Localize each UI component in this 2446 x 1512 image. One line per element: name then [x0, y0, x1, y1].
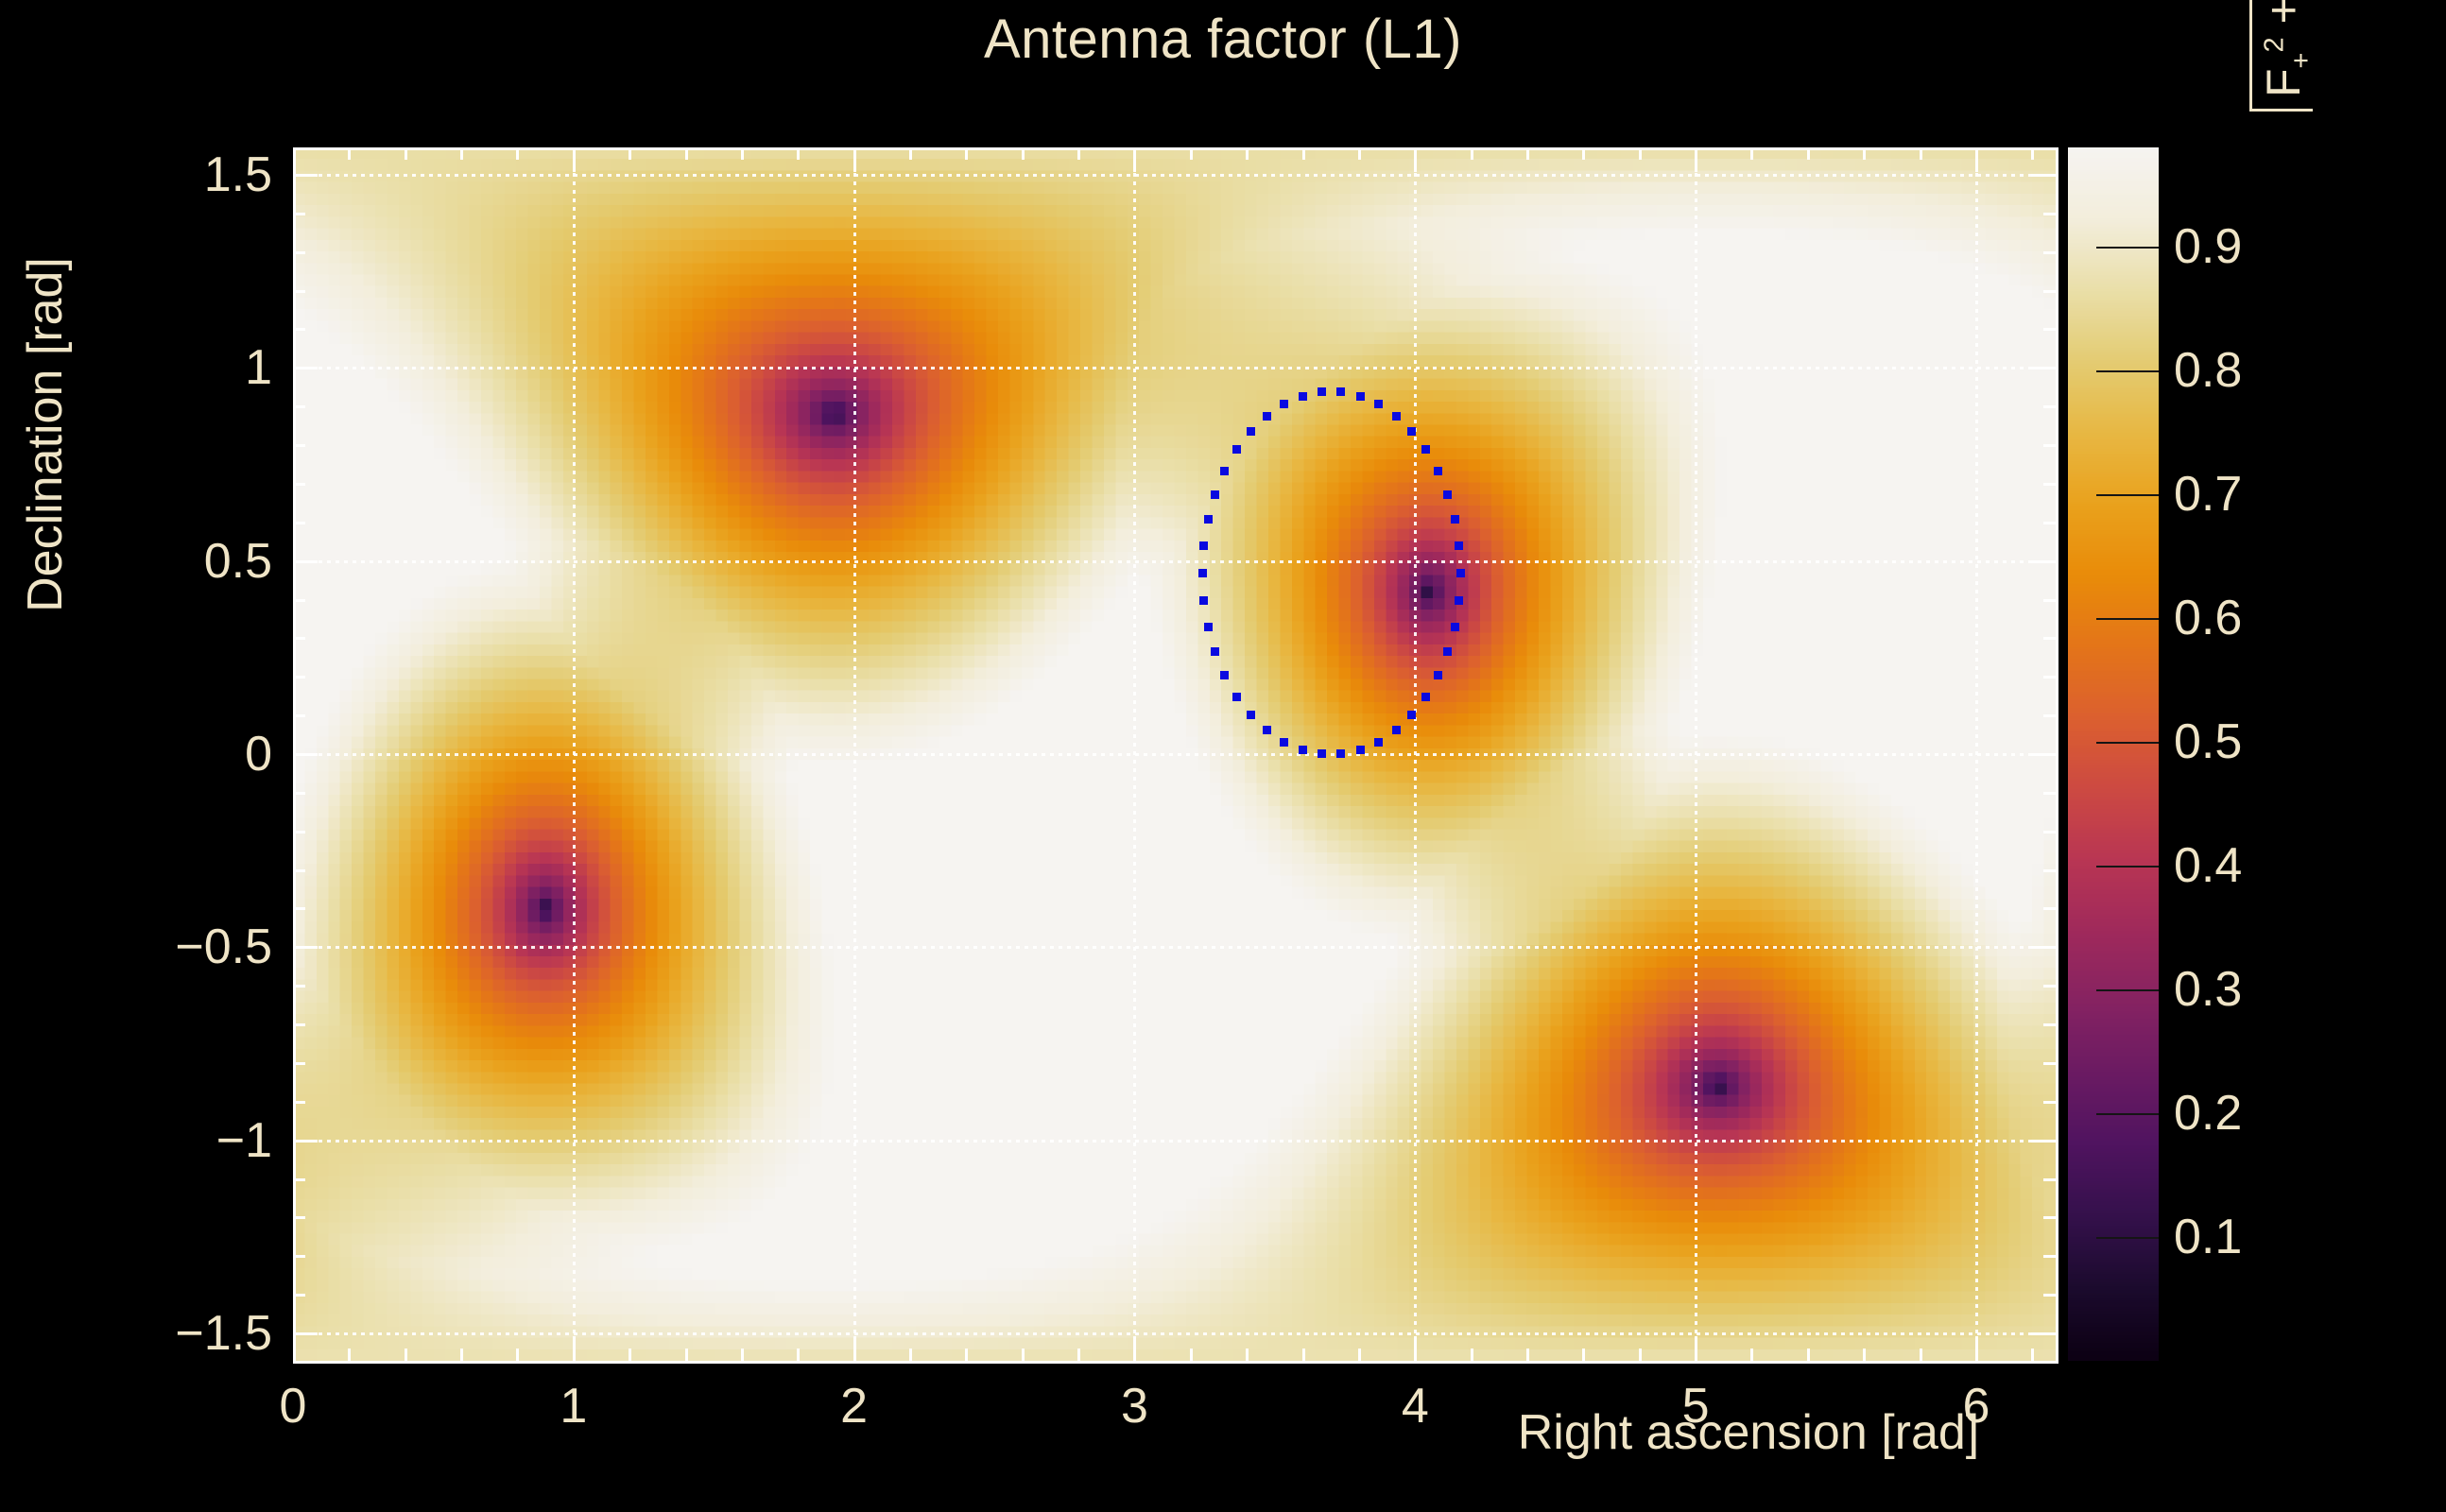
contour-marker: [1263, 412, 1271, 421]
sqrt-radical: F+2 + Fx2: [2249, 0, 2313, 112]
contour-marker: [1356, 392, 1365, 401]
color-bar-tick-label: 0.8: [2174, 342, 2242, 399]
x-axis-title: Right ascension [rad]: [1389, 1404, 2108, 1461]
y-tick-right: [2043, 1178, 2056, 1181]
sqrt-expression: F+2 + Fx2: [2256, 0, 2311, 99]
contour-marker: [1318, 749, 1326, 758]
plot-canvas: Antenna factor (L1) 0123456 1.510.50−0.5…: [0, 0, 2446, 1512]
y-tick-right: [2043, 869, 2056, 872]
y-tick-right: [2031, 560, 2056, 563]
plot-frame-bottom: [293, 1361, 2058, 1364]
x-tick-bottom: [1920, 1349, 1922, 1361]
x-tick-bottom: [1302, 1349, 1305, 1361]
color-bar-tick-label: 0.4: [2174, 837, 2242, 894]
y-tick-label: 1: [55, 339, 272, 396]
x-tick-bottom: [516, 1349, 519, 1361]
color-bar-tick: [2096, 1237, 2159, 1239]
contour-marker: [1356, 746, 1365, 754]
contour-marker: [1392, 412, 1401, 421]
x-tick-bottom: [348, 1349, 351, 1361]
contour-marker: [1451, 515, 1459, 524]
contour-marker: [1421, 693, 1430, 701]
y-tick-right: [2043, 676, 2056, 679]
z-axis-title: F+2 + Fx2: [2249, 0, 2313, 113]
contour-marker: [1204, 623, 1213, 631]
contour-marker: [1198, 569, 1207, 577]
contour-marker: [1374, 738, 1383, 747]
color-bar-tick: [2096, 1113, 2159, 1115]
contour-marker: [1434, 671, 1442, 679]
x-tick-bottom: [1863, 1349, 1866, 1361]
contour-marker: [1299, 746, 1307, 754]
y-tick-right: [2043, 792, 2056, 795]
y-tick-right: [2043, 213, 2056, 215]
contour-marker: [1220, 467, 1229, 475]
contour-marker: [1318, 387, 1326, 396]
contour-marker: [1421, 445, 1430, 454]
x-tick-bottom: [1807, 1349, 1810, 1361]
y-tick-left: [293, 1332, 318, 1335]
y-tick-right: [2043, 1023, 2056, 1026]
x-tick-top: [1975, 147, 1978, 172]
plus-operator: +: [2257, 0, 2310, 24]
y-tick-right: [2031, 753, 2056, 756]
contour-marker: [1407, 711, 1416, 719]
contour-marker: [1443, 647, 1452, 656]
color-bar-tick: [2096, 618, 2159, 620]
x-tick-bottom: [405, 1349, 407, 1361]
color-bar-tick-label: 0.3: [2174, 961, 2242, 1018]
contour-marker: [1211, 647, 1219, 656]
color-bar-tick: [2096, 989, 2159, 991]
color-bar-tick: [2096, 866, 2159, 868]
y-tick-label: −0.5: [55, 919, 272, 975]
contour-marker: [1232, 693, 1241, 701]
y-tick-right: [2043, 599, 2056, 602]
contour-marker: [1455, 596, 1463, 605]
x-tick-bottom: [1077, 1349, 1080, 1361]
y-tick-right: [2043, 637, 2056, 640]
y-tick-label: 0.5: [55, 533, 272, 590]
x-tick-bottom: [853, 1336, 856, 1361]
contour-marker: [1199, 596, 1208, 605]
y-tick-label: −1.5: [55, 1305, 272, 1362]
y-tick-right: [2031, 946, 2056, 949]
x-tick-bottom: [797, 1349, 800, 1361]
color-bar-tick: [2096, 247, 2159, 249]
y-tick-right: [2043, 714, 2056, 717]
x-tick-bottom: [741, 1349, 744, 1361]
x-tick-bottom: [965, 1349, 968, 1361]
contour-marker: [1443, 490, 1452, 499]
x-tick-bottom: [1414, 1336, 1417, 1361]
contour-marker: [1211, 490, 1219, 499]
color-bar-tick-label: 0.2: [2174, 1085, 2242, 1142]
y-tick-right: [2043, 405, 2056, 408]
x-tick-bottom: [685, 1349, 688, 1361]
x-tick-bottom: [909, 1349, 912, 1361]
contour-marker: [1220, 671, 1229, 679]
color-bar-tick-label: 0.5: [2174, 713, 2242, 770]
contour-marker: [1455, 541, 1463, 550]
f-plus-exp: 2: [2259, 37, 2289, 52]
x-tick-top: [573, 147, 576, 172]
y-tick-right: [2043, 483, 2056, 486]
heatmap-image: [293, 147, 2056, 1361]
y-tick-right: [2031, 174, 2056, 177]
x-tick-bottom: [2031, 1349, 2034, 1361]
y-tick-left: [293, 946, 318, 949]
y-tick-right: [2043, 1294, 2056, 1297]
plot-frame-top: [293, 147, 2058, 150]
x-tick-label: 1: [560, 1378, 587, 1435]
plot-frame-right: [2056, 147, 2058, 1364]
x-tick-top: [1695, 147, 1697, 172]
contour-marker: [1374, 400, 1383, 408]
x-tick-bottom: [1975, 1336, 1978, 1361]
contour-marker: [1280, 400, 1288, 408]
page-title: Antenna factor (L1): [0, 8, 2446, 71]
contour-marker: [1451, 623, 1459, 631]
x-tick-top: [1414, 147, 1417, 172]
y-tick-right: [2043, 1062, 2056, 1065]
y-tick-right: [2043, 985, 2056, 988]
y-tick-right: [2043, 831, 2056, 833]
color-bar-tick: [2096, 742, 2159, 744]
y-tick-left: [293, 1140, 318, 1143]
f-plus-term: F+2: [2257, 37, 2310, 97]
contour-marker: [1336, 387, 1345, 396]
x-tick-bottom: [1022, 1349, 1025, 1361]
contour-marker: [1247, 427, 1255, 436]
y-tick-right: [2043, 522, 2056, 524]
y-tick-right: [2043, 907, 2056, 910]
y-axis-title: Declination [rad]: [17, 170, 74, 699]
contour-marker: [1199, 541, 1208, 550]
y-tick-left: [293, 174, 318, 177]
color-bar[interactable]: [2068, 147, 2159, 1361]
x-tick-bottom: [1639, 1349, 1642, 1361]
contour-marker: [1456, 569, 1465, 577]
contour-marker: [1263, 726, 1271, 734]
color-bar-tick: [2096, 370, 2159, 372]
heatmap-plot-area[interactable]: [293, 147, 2056, 1361]
y-tick-right: [2031, 1140, 2056, 1143]
y-tick-right: [2031, 367, 2056, 369]
y-tick-right: [2043, 1255, 2056, 1258]
x-tick-bottom: [573, 1336, 576, 1361]
x-tick-label: 0: [280, 1378, 307, 1435]
color-bar-tick-label: 0.6: [2174, 590, 2242, 646]
y-tick-right: [2043, 444, 2056, 447]
contour-marker: [1204, 515, 1213, 524]
x-tick-top: [853, 147, 856, 172]
y-tick-left: [293, 560, 318, 563]
x-tick-label: 3: [1121, 1378, 1148, 1435]
x-tick-top: [1133, 147, 1136, 172]
y-tick-right: [2043, 328, 2056, 331]
color-bar-tick-label: 0.7: [2174, 466, 2242, 523]
contour-marker: [1247, 711, 1255, 719]
contour-marker: [1434, 467, 1442, 475]
x-tick-bottom: [1582, 1349, 1585, 1361]
color-bar-tick-label: 0.1: [2174, 1209, 2242, 1265]
x-tick-bottom: [1695, 1336, 1697, 1361]
y-tick-right: [2043, 290, 2056, 293]
plot-frame-left: [293, 147, 296, 1364]
x-tick-bottom: [1526, 1349, 1529, 1361]
f-plus-sub: +: [2286, 53, 2317, 69]
x-tick-label: 2: [840, 1378, 868, 1435]
y-tick-right: [2043, 251, 2056, 254]
x-tick-bottom: [1190, 1349, 1193, 1361]
y-tick-label: −1: [55, 1112, 272, 1169]
y-tick-right: [2043, 1216, 2056, 1219]
y-tick-right: [2031, 1332, 2056, 1335]
contour-marker: [1299, 392, 1307, 401]
color-bar-tick: [2096, 494, 2159, 496]
x-tick-bottom: [1358, 1349, 1361, 1361]
contour-marker: [1336, 749, 1345, 758]
x-tick-bottom: [460, 1349, 463, 1361]
x-tick-bottom: [1133, 1336, 1136, 1361]
contour-marker: [1407, 427, 1416, 436]
x-tick-bottom: [629, 1349, 631, 1361]
y-tick-left: [293, 753, 318, 756]
contour-marker: [1232, 445, 1241, 454]
contour-marker: [1392, 726, 1401, 734]
x-tick-bottom: [1471, 1349, 1473, 1361]
x-tick-bottom: [1246, 1349, 1249, 1361]
y-tick-right: [2043, 1101, 2056, 1104]
color-bar-tick-label: 0.9: [2174, 218, 2242, 275]
y-tick-left: [293, 367, 318, 369]
contour-marker: [1280, 738, 1288, 747]
y-tick-label: 1.5: [55, 146, 272, 203]
x-tick-bottom: [1750, 1349, 1753, 1361]
y-tick-label: 0: [55, 726, 272, 782]
